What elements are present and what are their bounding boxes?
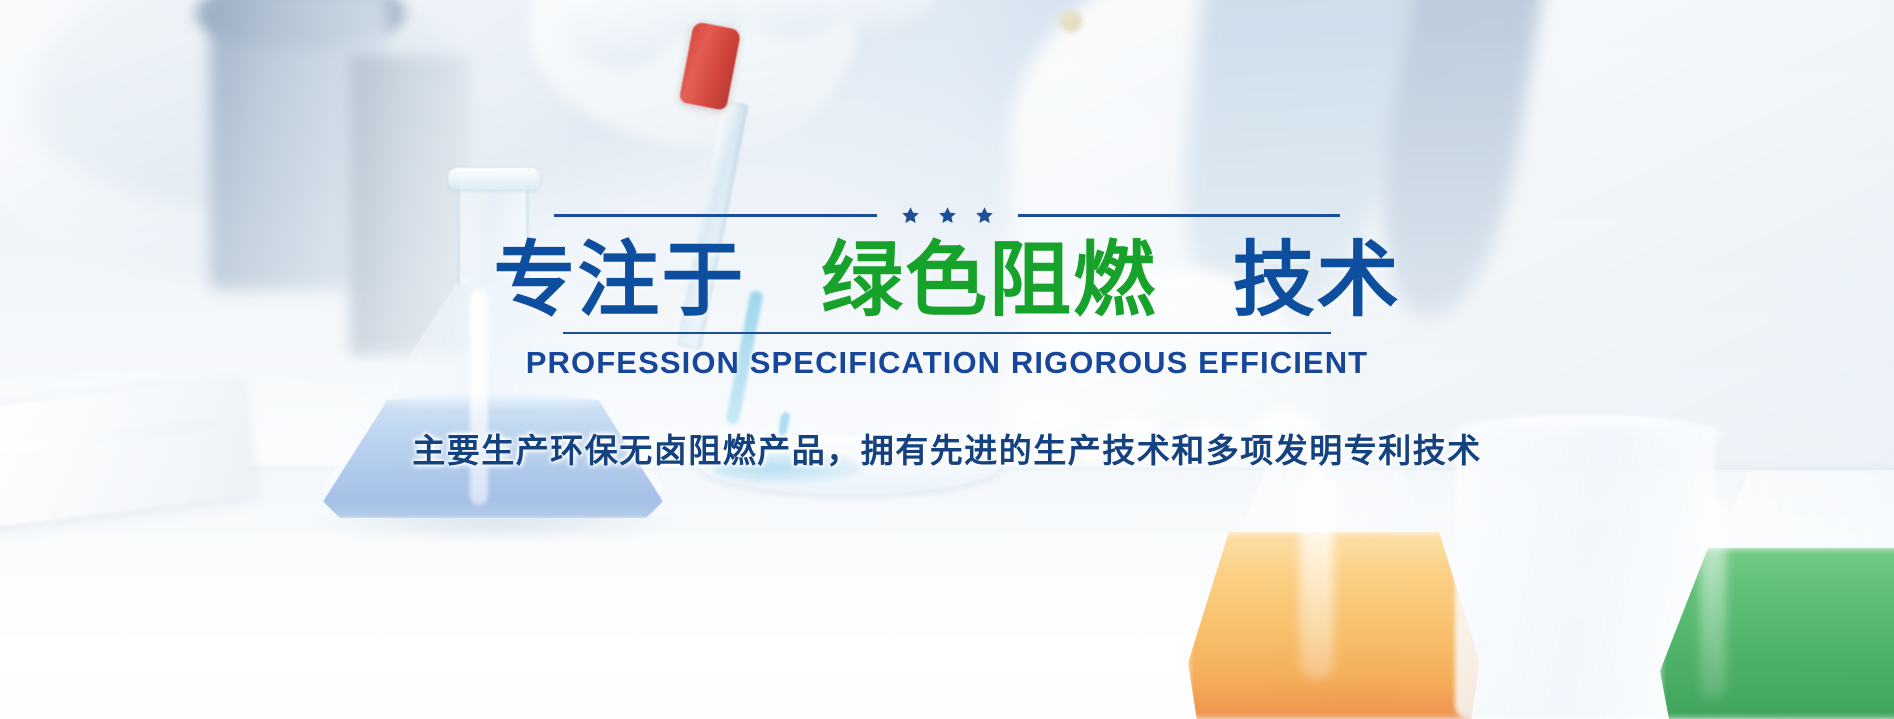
flask-neck-icon: [457, 175, 529, 285]
flask-orange-highlight: [1300, 470, 1334, 680]
flask-green-highlight: [1700, 500, 1726, 700]
flask-highlight: [470, 290, 488, 505]
flask-rim-icon: [448, 168, 540, 190]
hero-banner: 专注于 绿色阻燃 技术 PROFESSION SPECIFICATION RIG…: [0, 0, 1894, 719]
petri-dish-liquid: [712, 452, 862, 484]
flask-liquid-surface: [385, 395, 601, 411]
flask-orange-liquid: [1188, 532, 1480, 719]
button-dot-icon: [1060, 10, 1082, 32]
